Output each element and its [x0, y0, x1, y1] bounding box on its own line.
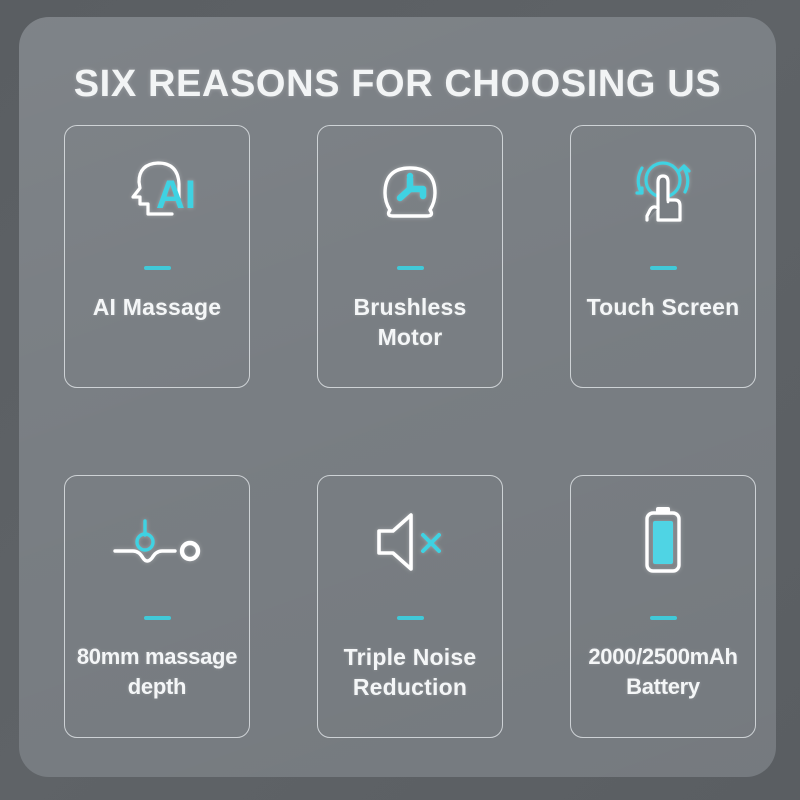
ai-head-icon: AI	[65, 126, 249, 258]
feature-row-top: AI AI Massage	[64, 125, 756, 388]
massage-depth-icon	[65, 476, 249, 608]
feature-grid: AI AI Massage	[64, 125, 756, 738]
feature-card-ai-massage[interactable]: AI AI Massage	[64, 125, 250, 388]
feature-card-touch-screen[interactable]: Touch Screen	[570, 125, 756, 388]
card-divider	[650, 266, 677, 270]
svg-text:AI: AI	[156, 173, 196, 217]
card-divider	[650, 616, 677, 620]
feature-card-brushless-motor[interactable]: Brushless Motor	[317, 125, 503, 388]
brushless-motor-icon	[318, 126, 502, 258]
card-divider	[144, 266, 171, 270]
card-divider	[397, 616, 424, 620]
mute-speaker-icon	[318, 476, 502, 608]
feature-label: 2000/2500mAh Battery	[571, 642, 755, 702]
touch-screen-icon	[571, 126, 755, 258]
feature-label: AI Massage	[65, 292, 249, 322]
feature-row-bottom: 80mm massage depth Tripl	[64, 475, 756, 738]
page-title: SIX REASONS FOR CHOOSING US	[19, 63, 776, 106]
card-divider	[144, 616, 171, 620]
card-divider	[397, 266, 424, 270]
content-panel: SIX REASONS FOR CHOOSING US AI AI Massag…	[19, 17, 776, 777]
feature-label: 80mm massage depth	[65, 642, 249, 702]
feature-label: Touch Screen	[571, 292, 755, 322]
feature-label: Triple Noise Reduction	[318, 642, 502, 702]
feature-card-noise-reduction[interactable]: Triple Noise Reduction	[317, 475, 503, 738]
battery-icon	[571, 476, 755, 608]
infographic-root: SIX REASONS FOR CHOOSING US AI AI Massag…	[0, 0, 800, 800]
feature-card-massage-depth[interactable]: 80mm massage depth	[64, 475, 250, 738]
feature-card-battery[interactable]: 2000/2500mAh Battery	[570, 475, 756, 738]
feature-label: Brushless Motor	[318, 292, 502, 352]
